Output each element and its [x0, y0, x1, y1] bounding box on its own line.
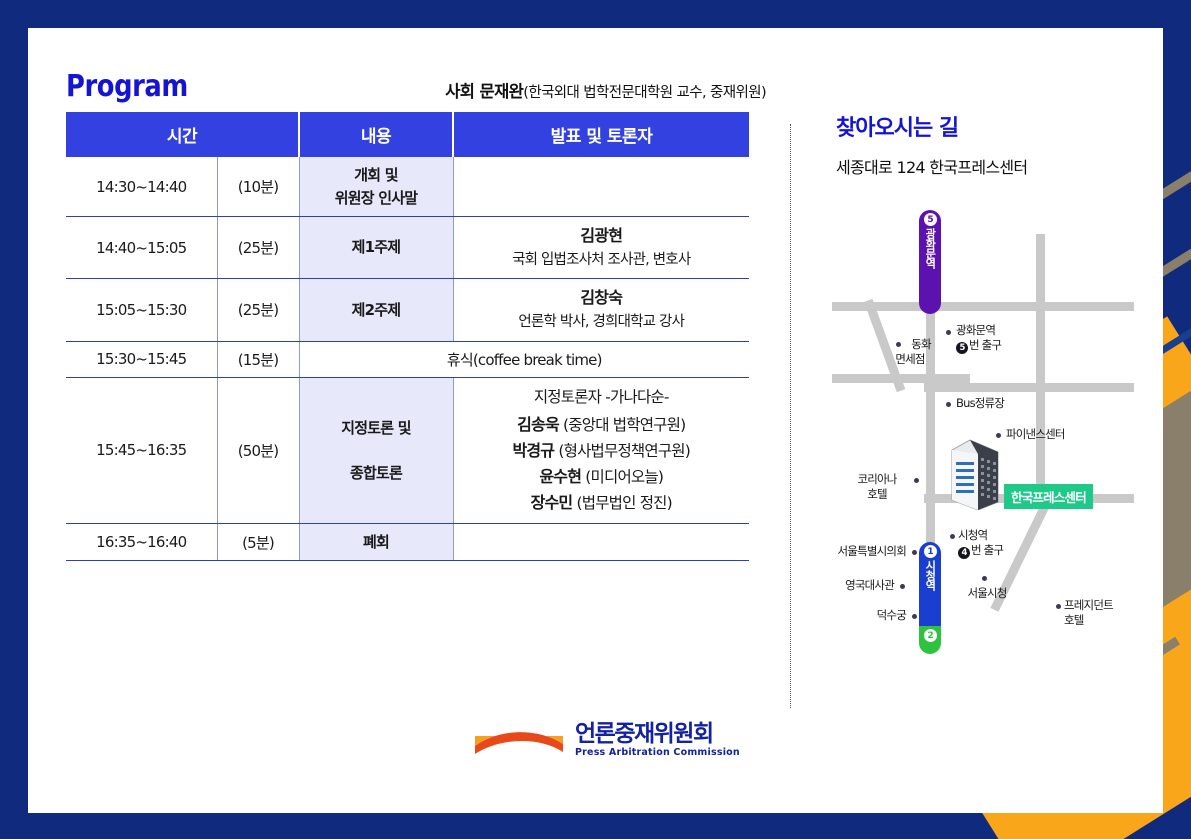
- discussant-heading: 지정토론자 -가나다순-: [458, 385, 746, 409]
- row-discussants: 지정토론자 -가나다순- 김송욱 (중앙대 법학연구원) 박경규 (형사법무정책…: [453, 377, 749, 523]
- poi-dot-seoul-council: [912, 550, 917, 555]
- poi-label-bus-stop: Bus정류장: [956, 396, 1004, 411]
- table-header-row: 시간 내용 발표 및 토론자: [66, 112, 749, 157]
- station-name-label: 광화문역: [924, 228, 936, 268]
- poi-name-line1: 코리아나: [857, 472, 896, 486]
- road-horizontal-top: [832, 302, 1134, 311]
- station-marker-city-hall: 1 시청역 2: [919, 542, 941, 654]
- directions-title: 찾아오시는 길: [836, 110, 1138, 142]
- station-marker-gwanghwamun: 5 광화문역: [919, 210, 941, 314]
- discussant-name: 김송욱: [517, 415, 559, 434]
- speaker-affiliation: 언론학 박사, 경희대학교 강사: [458, 311, 746, 333]
- row-time: 15:45~16:35: [66, 377, 217, 523]
- table-row: 15:45~16:35 (50분) 지정토론 및 종합토론 지정토론자 -가나다…: [66, 377, 749, 523]
- organization-name-en: Press Arbitration Commission: [575, 748, 740, 758]
- exit-suffix: 번 출구: [969, 338, 1001, 352]
- moderator-affiliation: (한국외대 법학전문대학원 교수, 중재위원): [523, 85, 766, 101]
- poi-label-deoksugung: 덕수궁: [846, 608, 906, 623]
- poi-name-line2: 호텔: [867, 487, 887, 501]
- poi-dot-gwanghwamun-exit: [946, 330, 951, 335]
- row-duration: (50분): [217, 377, 299, 523]
- row-speaker: 김창숙 언론학 박사, 경희대학교 강사: [453, 279, 749, 341]
- poi-label-president-hotel: 프레지던트 호텔: [1064, 598, 1136, 628]
- exit-number-badge: 5: [956, 342, 968, 354]
- column-header-time: 시간: [66, 112, 299, 157]
- poi-label-british-embassy: 영국대사관: [826, 578, 894, 593]
- row-speaker: [453, 523, 749, 561]
- poi-name-line2: 면세점: [895, 352, 924, 366]
- row-topic: 개회 및 위원장 인사말: [299, 157, 453, 217]
- speaker-affiliation: 국회 입법조사처 조사관, 변호사: [458, 249, 746, 271]
- discussant-name: 윤수현: [539, 467, 581, 486]
- poi-dot-president-hotel: [1056, 604, 1061, 609]
- road-horizontal-middle: [924, 383, 1134, 392]
- press-center-building-icon: [948, 432, 1002, 510]
- station-line-1-segment: 1 시청역: [919, 542, 941, 626]
- row-topic: 폐회: [299, 523, 453, 561]
- poi-label-seoul-council: 서울특별시의회: [826, 544, 906, 559]
- location-map: 5 광화문역 광화문역 5번 출구 동화 면세점 Bus정류장 파이낸스센터: [828, 190, 1138, 620]
- row-speaker: [453, 157, 749, 217]
- poi-label-city-hall-exit: 시청역 4번 출구: [958, 528, 1003, 559]
- speaker-name: 김창숙: [458, 286, 746, 311]
- table-row: 15:05~15:30 (25분) 제2주제 김창숙 언론학 박사, 경희대학교…: [66, 279, 749, 341]
- poi-dot-british-embassy: [900, 584, 905, 589]
- poi-dot-bus-stop: [946, 402, 951, 407]
- row-time: 15:05~15:30: [66, 279, 217, 341]
- discussant-entry: 장수민 (법무법인 정진): [458, 490, 746, 516]
- discussant-affiliation: (형사법무정책연구원): [558, 442, 690, 460]
- directions-section: 찾아오시는 길 세종대로 124 한국프레스센터 5 광화문역: [828, 110, 1138, 620]
- station-line-2-segment: 2: [919, 626, 941, 654]
- station-name-label: 시청역: [924, 560, 936, 590]
- discussant-entry: 윤수현 (미디어오늘): [458, 464, 746, 490]
- poi-label-seoul-city-hall: 서울시청: [956, 586, 1018, 601]
- row-topic-line2: 종합토론: [350, 464, 402, 482]
- table-row: 14:40~15:05 (25분) 제1주제 김광현 국회 입법조사처 조사관,…: [66, 217, 749, 279]
- logo-text-block: 언론중재위원회 Press Arbitration Commission: [575, 723, 740, 758]
- discussant-affiliation: (중앙대 법학연구원): [563, 416, 685, 434]
- organization-name-ko: 언론중재위원회: [575, 723, 740, 746]
- arc-logo-icon: [473, 720, 565, 760]
- poi-label-finance-center: 파이낸스센터: [1006, 427, 1065, 442]
- speaker-name: 김광현: [458, 224, 746, 249]
- row-duration: (25분): [217, 279, 299, 341]
- program-section: Program 사회 문재완(한국외대 법학전문대학원 교수, 중재위원) 시간…: [66, 64, 766, 561]
- line-number-badge: 5: [924, 213, 937, 226]
- row-time: 16:35~16:40: [66, 523, 217, 561]
- venue-address: 세종대로 124 한국프레스센터: [836, 154, 1138, 178]
- row-duration: (10분): [217, 157, 299, 217]
- poi-name: 시청역: [958, 528, 987, 542]
- line-number-badge: 1: [924, 545, 937, 558]
- program-table: 시간 내용 발표 및 토론자 14:30~14:40 (10분) 개회 및 위원…: [66, 112, 749, 561]
- row-duration: (5분): [217, 523, 299, 561]
- poi-label-koreana-hotel: 코리아나 호텔: [844, 472, 910, 502]
- discussant-affiliation: (미디어오늘): [585, 468, 663, 486]
- row-topic: 제2주제: [299, 279, 453, 341]
- discussant-name: 박경규: [512, 441, 554, 460]
- column-header-speakers: 발표 및 토론자: [453, 112, 749, 157]
- poster-card: Program 사회 문재완(한국외대 법학전문대학원 교수, 중재위원) 시간…: [28, 28, 1163, 813]
- poi-name: 광화문역: [956, 323, 995, 337]
- row-time: 14:40~15:05: [66, 217, 217, 279]
- discussant-name: 장수민: [531, 493, 573, 512]
- row-topic: 지정토론 및 종합토론: [299, 377, 453, 523]
- moderator-name: 사회 문재완: [445, 82, 523, 101]
- row-topic: 제1주제: [299, 217, 453, 279]
- poi-label-gwanghwamun-exit: 광화문역 5번 출구: [956, 323, 1001, 354]
- poi-dot-deoksugung: [912, 614, 917, 619]
- poi-name-line2: 호텔: [1064, 613, 1084, 627]
- page-title: Program: [66, 69, 188, 104]
- station-line-5-segment: 5 광화문역: [919, 210, 941, 314]
- column-header-content: 내용: [299, 112, 453, 157]
- row-duration: (15분): [217, 341, 299, 377]
- poi-name-line1: 동화: [911, 337, 931, 351]
- row-topic-line2: 위원장 인사말: [335, 189, 417, 207]
- row-break-text: 휴식(coffee break time): [299, 341, 749, 377]
- discussant-entry: 박경규 (형사법무정책연구원): [458, 438, 746, 464]
- exit-suffix: 번 출구: [971, 543, 1003, 557]
- row-topic-line1: 지정토론 및: [341, 419, 410, 437]
- row-speaker: 김광현 국회 입법조사처 조사관, 변호사: [453, 217, 749, 279]
- moderator-line: 사회 문재완(한국외대 법학전문대학원 교수, 중재위원): [445, 78, 766, 104]
- row-duration: (25분): [217, 217, 299, 279]
- table-row: 14:30~14:40 (10분) 개회 및 위원장 인사말: [66, 157, 749, 217]
- poi-label-dongwha: 동화 면세점: [880, 337, 940, 367]
- poi-dot-city-hall-exit: [950, 534, 955, 539]
- poi-name-line1: 프레지던트: [1064, 598, 1113, 612]
- organization-logo: 언론중재위원회 Press Arbitration Commission: [473, 720, 740, 760]
- poi-dot-seoul-city-hall: [982, 576, 987, 581]
- row-topic-line1: 개회 및: [354, 166, 397, 184]
- venue-name-tag: 한국프레스센터: [1004, 484, 1093, 509]
- program-header: Program 사회 문재완(한국외대 법학전문대학원 교수, 중재위원): [66, 64, 766, 104]
- road-vertical-right-upper: [1036, 234, 1045, 434]
- row-time: 14:30~14:40: [66, 157, 217, 217]
- line-number-badge: 2: [924, 629, 937, 642]
- exit-number-badge: 4: [958, 547, 970, 559]
- poi-dot-koreana-hotel: [914, 478, 919, 483]
- table-row: 16:35~16:40 (5분) 폐회: [66, 523, 749, 561]
- discussant-entry: 김송욱 (중앙대 법학연구원): [458, 412, 746, 438]
- row-time: 15:30~15:45: [66, 341, 217, 377]
- table-row: 15:30~15:45 (15분) 휴식(coffee break time): [66, 341, 749, 377]
- discussant-affiliation: (법무법인 정진): [577, 494, 672, 512]
- vertical-divider: [790, 124, 791, 708]
